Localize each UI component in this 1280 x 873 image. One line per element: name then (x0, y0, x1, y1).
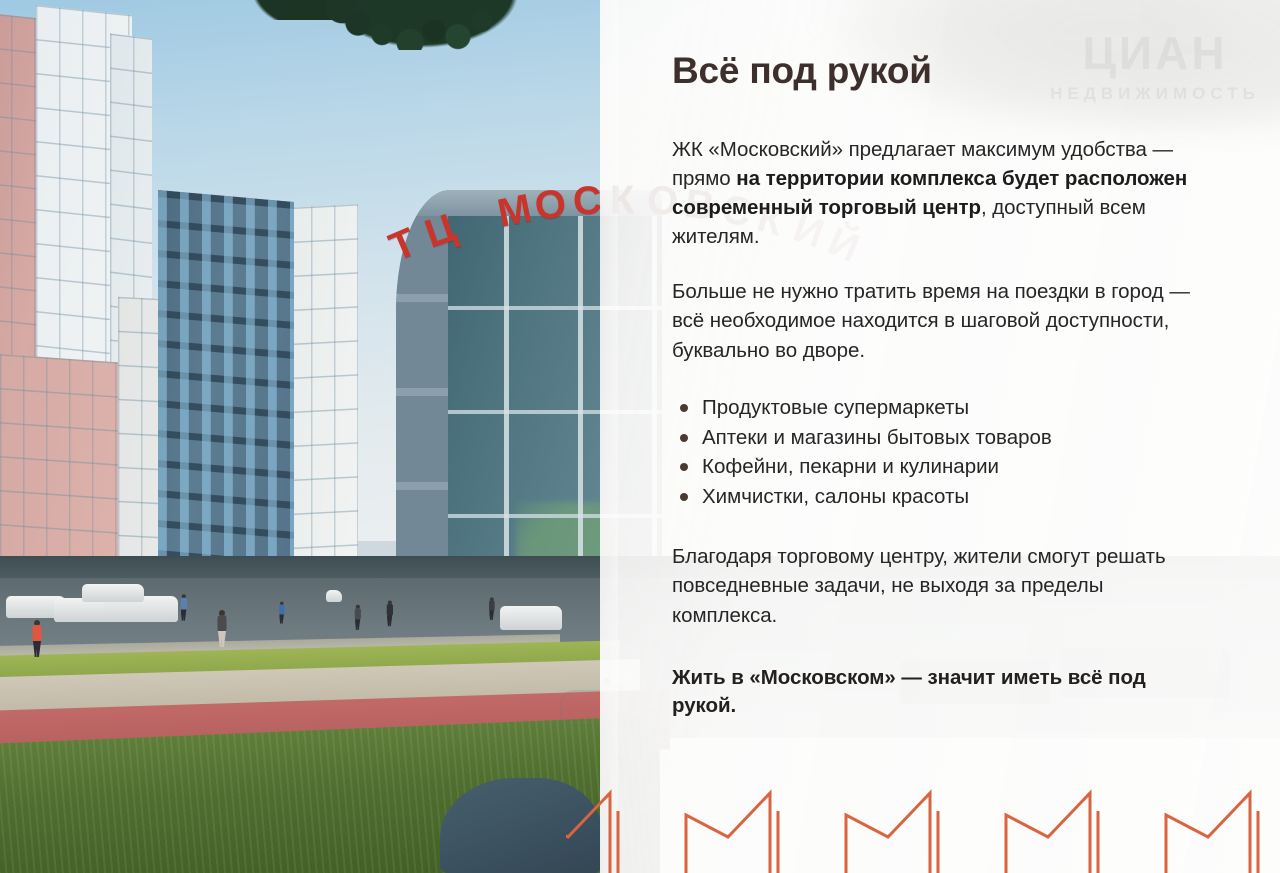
feature-list-item: Продуктовые супермаркеты (672, 393, 1192, 423)
mall-sign-letter (456, 197, 479, 243)
pedestrian-body (33, 625, 42, 642)
pedestrian (180, 594, 188, 616)
emphasised-text: на территории комплекса будет расположен… (672, 167, 1187, 219)
pedestrian (386, 601, 394, 622)
paragraph-walkability: Больше не нужно тратить время на поездки… (672, 277, 1192, 364)
poster-image: ТЦ МОСКОВСКИЙ ЦИАН НЕДВИЖИМОСТЬ Всё под … (0, 0, 1280, 873)
tagline: Жить в «Московском» — значит иметь всё п… (672, 664, 1192, 721)
paragraph-closing: Благодаря торговому центру, жители смогу… (672, 542, 1192, 629)
pedestrian (30, 620, 44, 664)
feature-list-item: Кофейни, пекарни и кулинарии (672, 452, 1192, 482)
pedestrian-body (218, 615, 227, 632)
pedestrian (278, 602, 285, 619)
parked-car (82, 584, 144, 602)
pedestrian-body (279, 605, 284, 615)
mall-sign-letter: О (532, 181, 569, 230)
mall-sign-letter: М (494, 186, 536, 237)
pedestrian-legs (218, 631, 226, 647)
pedestrian (354, 605, 361, 625)
mall-sign-letter: С (571, 178, 603, 225)
pedestrian-body (386, 604, 392, 616)
features-list: Продуктовые супермаркетыАптеки и магазин… (672, 393, 1192, 513)
tree-foliage-top (322, 0, 522, 50)
pedestrian (215, 610, 229, 654)
panel-left-edge (600, 0, 618, 873)
pedestrian (488, 597, 495, 614)
feature-list-item: Аптеки и магазины бытовых товаров (672, 423, 1192, 453)
brand-zigzag-pattern (566, 781, 1280, 873)
page-title: Всё под рукой (672, 52, 1192, 91)
zigzag-svg (566, 781, 1280, 873)
zigzag-path (566, 793, 1280, 873)
feature-list-item: Химчистки, салоны красоты (672, 482, 1192, 512)
pedestrian-body (180, 598, 186, 610)
parked-car (326, 590, 342, 602)
parked-car (500, 606, 562, 630)
panel-content: Всё под рукой ЖК «Московский» предлагает… (672, 0, 1192, 721)
pedestrian-legs (33, 641, 41, 657)
pedestrian-body (354, 608, 360, 620)
pedestrian-body (489, 600, 495, 611)
paragraph-intro: ЖК «Московский» предлагает максимум удоб… (672, 135, 1192, 251)
